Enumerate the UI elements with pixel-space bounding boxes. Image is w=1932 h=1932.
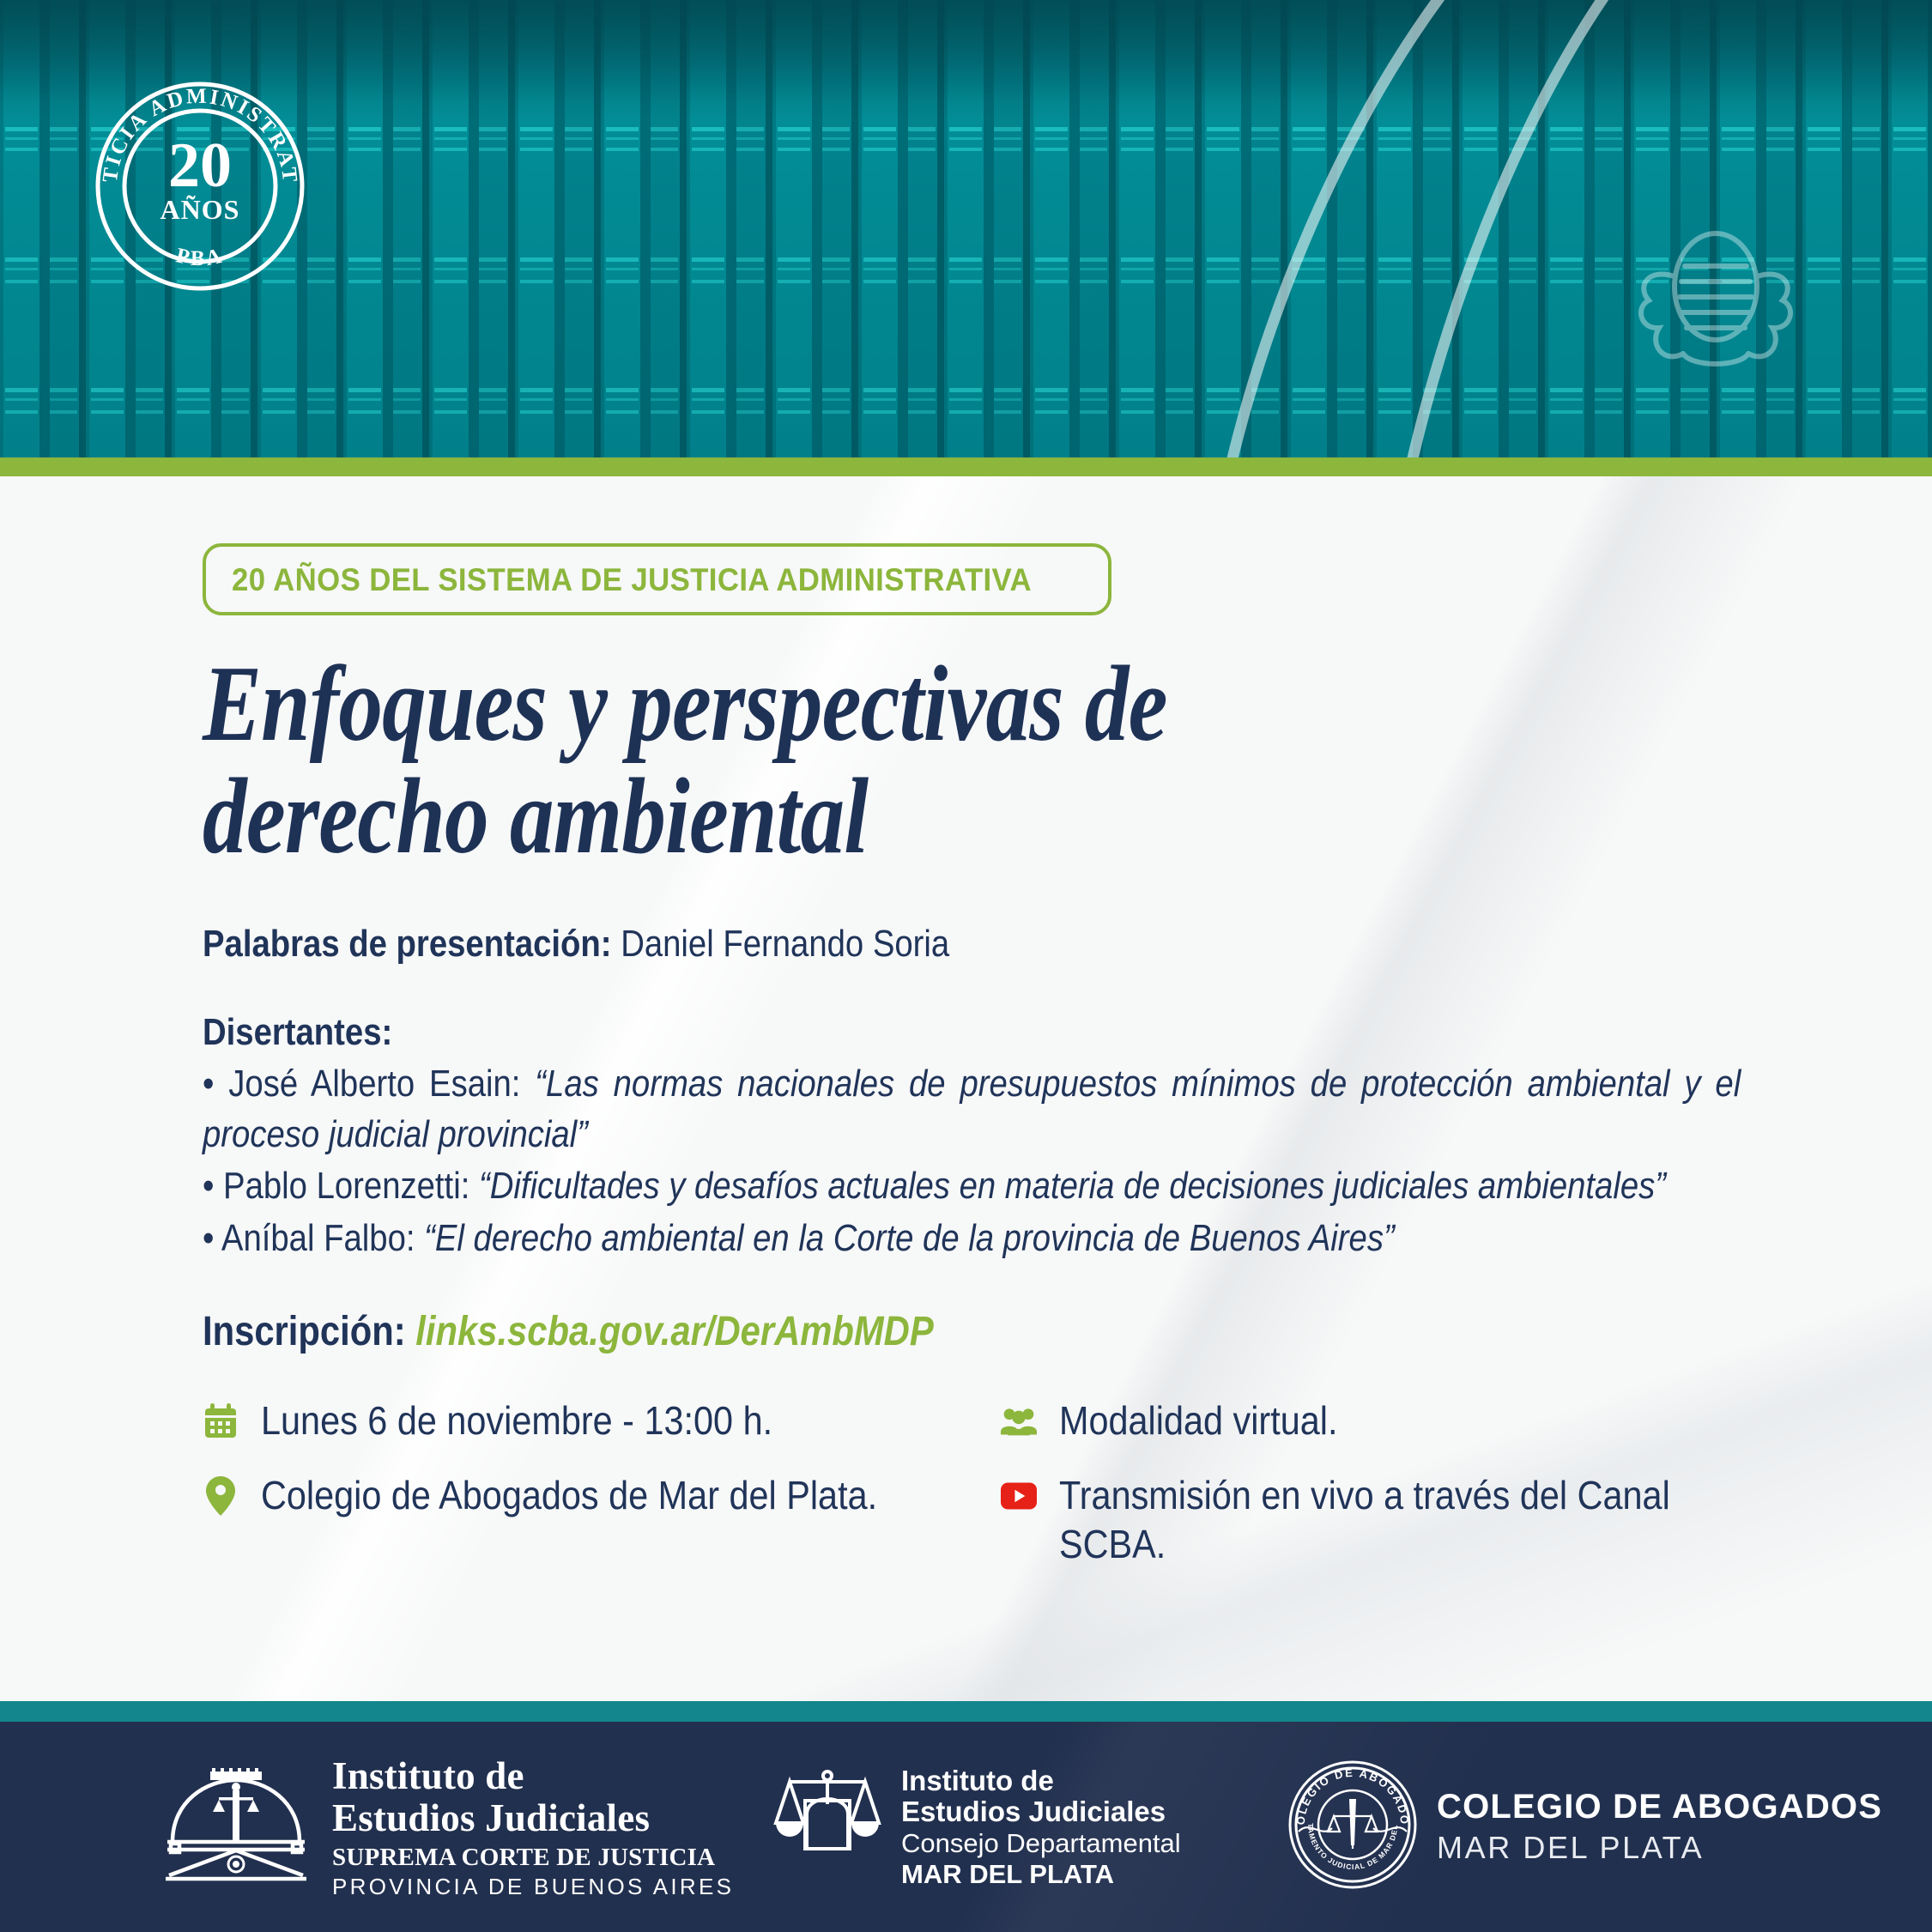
footer-logo-2-line-2: Estudios Judiciales bbox=[901, 1796, 1181, 1827]
registration-link[interactable]: links.scba.gov.ar/DerAmbMDP bbox=[415, 1309, 933, 1354]
detail-venue: Colegio de Abogados de Mar del Plata. bbox=[203, 1471, 958, 1569]
presentation-name: Daniel Fernando Soria bbox=[612, 923, 950, 965]
svg-text:AÑOS: AÑOS bbox=[160, 194, 240, 225]
page-title-line-1: Enfoques y perspectivas de bbox=[203, 648, 1737, 760]
speaker-talk-title: “Dificultades y desafíos actuales en mat… bbox=[479, 1165, 1666, 1207]
poster-root: JUSTICIA ADMINISTRATIVA PBA 20 AÑOS bbox=[0, 0, 1932, 1932]
detail-date-text: Lunes 6 de noviembre - 13:00 h. bbox=[261, 1396, 772, 1445]
people-icon bbox=[1001, 1402, 1037, 1441]
youtube-icon bbox=[1001, 1476, 1037, 1516]
presentation-label: Palabras de presentación: bbox=[203, 923, 612, 965]
page-title-line-2: derecho ambiental bbox=[203, 760, 1737, 873]
speaker-name: Aníbal Falbo: bbox=[221, 1217, 424, 1259]
detail-stream-text: Transmisión en vivo a través del Canal S… bbox=[1059, 1471, 1679, 1569]
judicial-wig-icon bbox=[1630, 225, 1802, 388]
speaker-name: Pablo Lorenzetti: bbox=[223, 1165, 479, 1207]
event-details-grid: Lunes 6 de noviembre - 13:00 h. M bbox=[203, 1396, 1747, 1569]
footer-logo-colegio-abogados: COLEGIO DE ABOGADOS DEPARTAMENTO JUDICIA… bbox=[1287, 1759, 1882, 1894]
bar-association-seal-icon: COLEGIO DE ABOGADOS DEPARTAMENTO JUDICIA… bbox=[1287, 1759, 1418, 1894]
footer-logo-2-line-4: MAR DEL PLATA bbox=[901, 1860, 1181, 1888]
page-title: Enfoques y perspectivas de derecho ambie… bbox=[203, 648, 1737, 873]
scales-of-justice-icon bbox=[772, 1770, 882, 1884]
speakers-list: • José Alberto Esain: “Las normas nacion… bbox=[203, 1059, 1747, 1263]
detail-venue-text: Colegio de Abogados de Mar del Plata. bbox=[261, 1471, 877, 1520]
event-series-tag: 20 AÑOS DEL SISTEMA DE JUSTICIA ADMINIST… bbox=[203, 543, 1111, 615]
footer-logo-2-line-3: Consejo Departamental bbox=[901, 1829, 1181, 1857]
anniversary-seal-logo: JUSTICIA ADMINISTRATIVA PBA 20 AÑOS bbox=[93, 79, 307, 294]
speaker-item: • José Alberto Esain: “Las normas nacion… bbox=[203, 1059, 1741, 1160]
detail-modality-text: Modalidad virtual. bbox=[1059, 1396, 1337, 1445]
detail-date: Lunes 6 de noviembre - 13:00 h. bbox=[203, 1396, 958, 1445]
detail-stream: Transmisión en vivo a través del Canal S… bbox=[1001, 1471, 1747, 1569]
event-series-tag-label: 20 AÑOS DEL SISTEMA DE JUSTICIA ADMINIST… bbox=[232, 562, 1032, 598]
speaker-bullet: • bbox=[203, 1217, 221, 1259]
speaker-item: • Aníbal Falbo: “El derecho ambiental en… bbox=[203, 1214, 1741, 1264]
footer-logo-iej-mdp: Instituto de Estudios Judiciales Consejo… bbox=[772, 1765, 1181, 1888]
svg-text:20: 20 bbox=[168, 130, 232, 201]
svg-text:PBA: PBA bbox=[174, 244, 227, 270]
speaker-item: • Pablo Lorenzetti: “Dificultades y desa… bbox=[203, 1161, 1741, 1212]
footer-logo-3-line-2: MAR DEL PLATA bbox=[1437, 1832, 1882, 1865]
teal-divider-bar bbox=[0, 1701, 1932, 1722]
footer-logo-1-line-2: Estudios Judiciales bbox=[332, 1797, 734, 1839]
speaker-bullet: • bbox=[203, 1165, 223, 1207]
green-divider-bar bbox=[0, 457, 1932, 476]
registration-line: Inscripción: links.scba.gov.ar/DerAmbMDP bbox=[203, 1308, 1547, 1355]
speaker-name: José Alberto Esain: bbox=[228, 1063, 535, 1105]
speaker-bullet: • bbox=[203, 1063, 228, 1105]
footer-logo-iej-scba: Instituto de Estudios Judiciales SUPREMA… bbox=[159, 1755, 734, 1899]
footer-logo-1-line-1: Instituto de bbox=[332, 1755, 734, 1797]
detail-modality: Modalidad virtual. bbox=[1001, 1396, 1747, 1445]
footer-logo-1-line-3: SUPREMA CORTE DE JUSTICIA bbox=[332, 1844, 734, 1871]
registration-label: Inscripción: bbox=[203, 1309, 415, 1354]
footer-logo-1-line-4: PROVINCIA DE BUENOS AIRES bbox=[332, 1874, 734, 1899]
courthouse-dome-justice-icon bbox=[159, 1768, 313, 1886]
footer-logo-2-line-1: Instituto de bbox=[901, 1765, 1181, 1796]
footer-logo-3-line-1: COLEGIO DE ABOGADOS bbox=[1437, 1789, 1882, 1826]
hero-banner: JUSTICIA ADMINISTRATIVA PBA 20 AÑOS bbox=[0, 0, 1932, 457]
content-area: 20 AÑOS DEL SISTEMA DE JUSTICIA ADMINIST… bbox=[0, 476, 1932, 1701]
speaker-talk-title: “El derecho ambiental en la Corte de la … bbox=[424, 1217, 1395, 1259]
speakers-heading: Disertantes: bbox=[203, 1011, 1547, 1054]
presentation-line: Palabras de presentación: Daniel Fernand… bbox=[203, 919, 1547, 968]
footer: Instituto de Estudios Judiciales SUPREMA… bbox=[0, 1722, 1932, 1932]
calendar-icon bbox=[203, 1402, 239, 1441]
location-pin-icon bbox=[203, 1476, 239, 1516]
